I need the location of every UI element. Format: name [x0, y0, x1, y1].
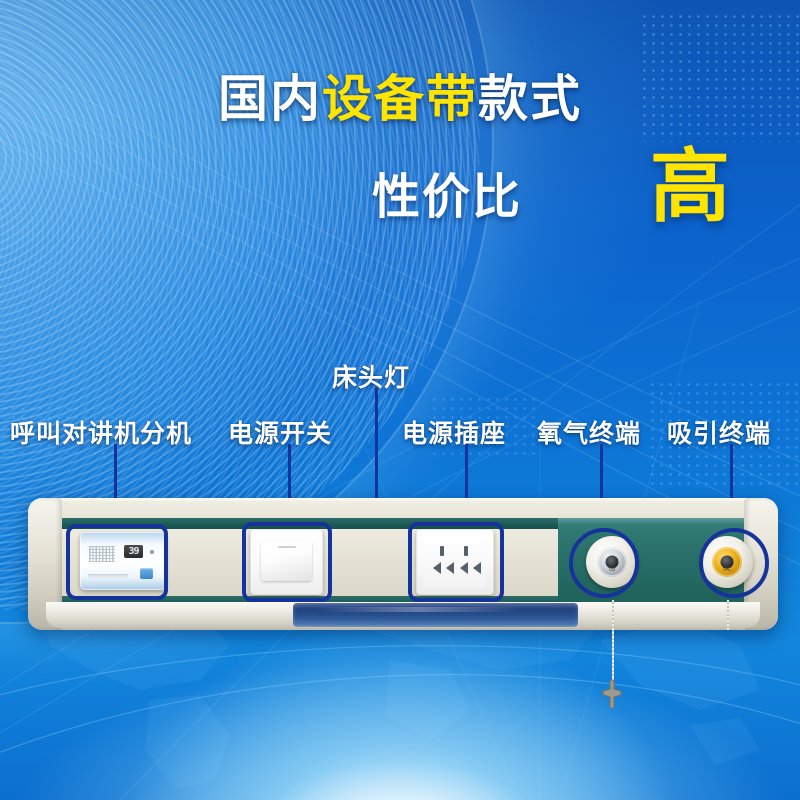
- oxygen-hose-cord: [612, 600, 614, 686]
- highlight-box-power-switch: [242, 522, 332, 602]
- callout-label-suction: 吸引终端: [667, 414, 771, 450]
- headline-highlight: 设备带: [322, 71, 478, 127]
- callout-label-power-switch: 电源开关: [228, 414, 332, 450]
- poster-canvas: 国内设备带款式 性价比 高 呼叫对讲机分机 电源开关 床头灯 电源插座 氧气终端…: [0, 0, 800, 800]
- headline-block: 国内设备带款式: [0, 74, 800, 124]
- highlight-box-power-outlet: [408, 522, 504, 602]
- headline-part-1: 国内: [218, 71, 322, 127]
- suction-hose-cord: [727, 600, 729, 630]
- horizon-glow: [120, 620, 680, 800]
- highlight-box-intercom: [66, 524, 168, 600]
- headline-part-2: 款式: [478, 71, 582, 127]
- callout-label-bed-lamp: 床头灯: [332, 358, 410, 394]
- headline-line-2: 性价比: [372, 174, 522, 222]
- highlight-circle-oxygen: [569, 528, 639, 598]
- callout-label-power-outlet: 电源插座: [402, 414, 506, 450]
- callout-label-oxygen: 氧气终端: [537, 414, 641, 450]
- callout-label-intercom: 呼叫对讲机分机: [10, 414, 192, 450]
- bed-lamp-cover: [293, 603, 578, 627]
- hose-connector-plug-icon: [598, 680, 626, 708]
- headline-emphasis: 高: [650, 147, 730, 227]
- headline-line-1: 国内设备带款式: [0, 74, 800, 124]
- highlight-circle-suction: [699, 528, 769, 598]
